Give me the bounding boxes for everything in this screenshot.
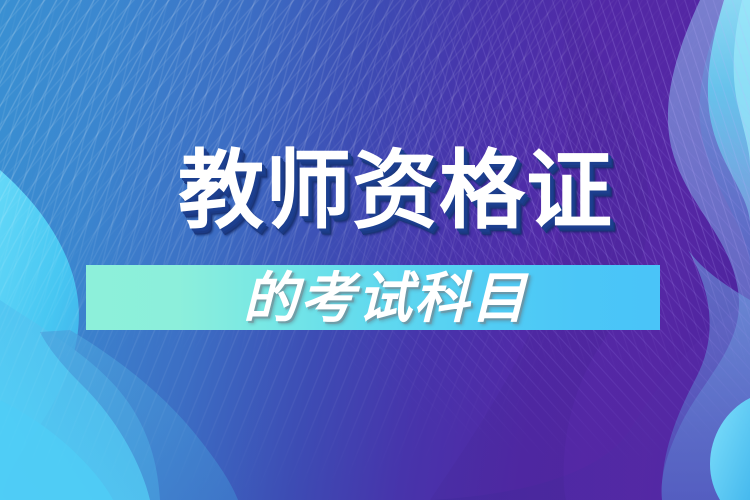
line-fan-texture-right-lower [0, 0, 750, 500]
banner: 教师资格证 的考试科目 [0, 0, 750, 500]
banner-title: 教师资格证 [178, 148, 613, 234]
banner-subtitle: 的考试科目 [243, 268, 528, 328]
